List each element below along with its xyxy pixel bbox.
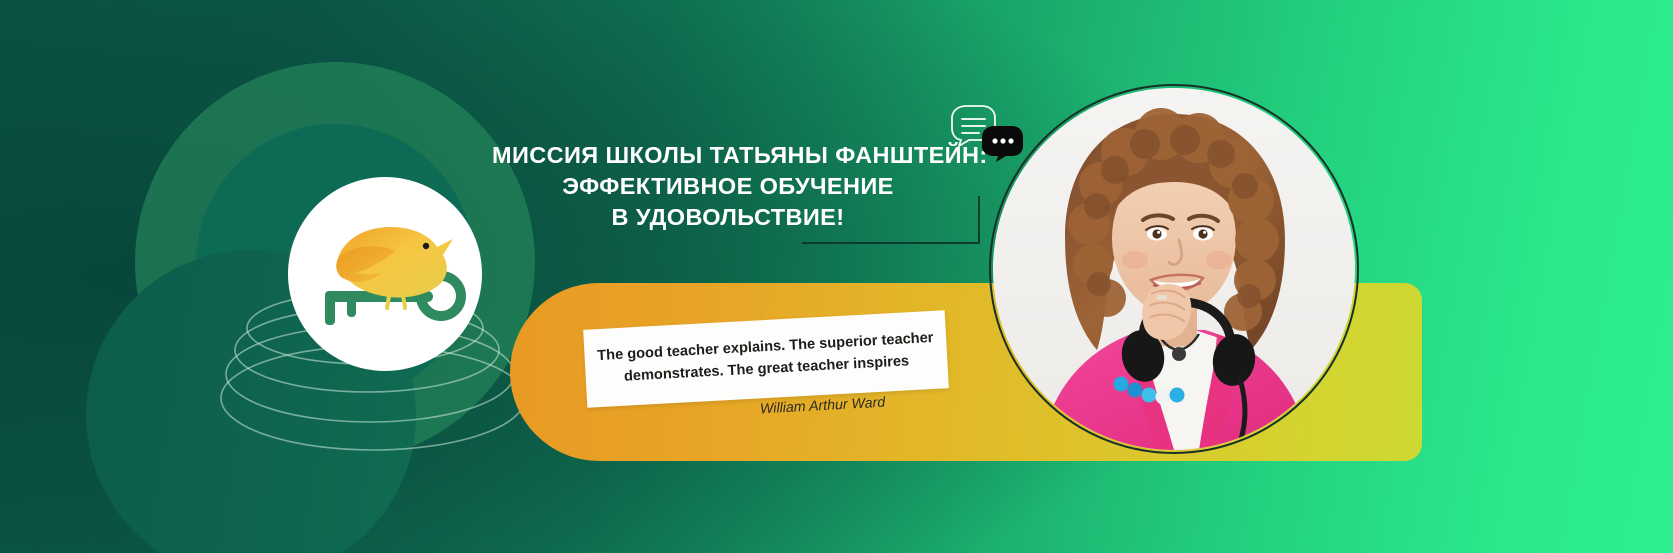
decorative-bracket-rule [802, 196, 980, 244]
headline-line-1: МИССИЯ ШКОЛЫ ТАТЬЯНЫ ФАНШТЕЙН: [492, 140, 964, 171]
chat-bubble-dots-icon [980, 125, 1024, 163]
school-logo-circle [288, 177, 482, 371]
finger-ring [1157, 295, 1167, 300]
quote-text: The good teacher explains. The superior … [584, 327, 948, 390]
bird-on-key-logo-icon [303, 199, 467, 349]
teacher-portrait-photo [993, 88, 1355, 450]
bird-eye [423, 243, 429, 249]
promo-banner: МИССИЯ ШКОЛЫ ТАТЬЯНЫ ФАНШТЕЙН: ЭФФЕКТИВН… [0, 0, 1673, 553]
